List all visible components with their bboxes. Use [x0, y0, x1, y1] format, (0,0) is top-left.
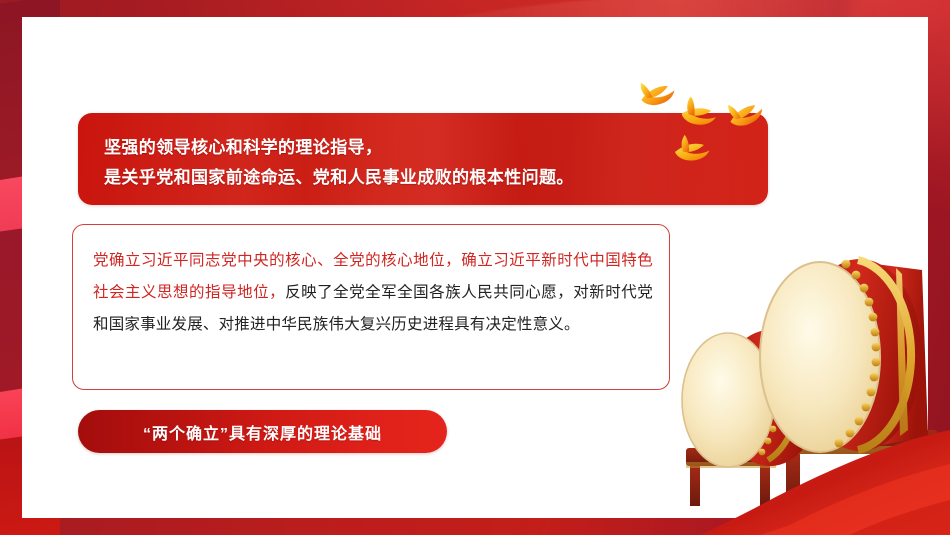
section-title-pill[interactable]: “两个确立”具有深厚的理论基础 — [78, 410, 447, 453]
headline-banner: 坚强的领导核心和科学的理论指导， 是关乎党和国家前途命运、党和人民事业成败的根本… — [78, 113, 768, 205]
headline-line-2: 是关乎党和国家前途命运、党和人民事业成败的根本性问题。 — [104, 163, 748, 193]
body-text: 党确立习近平同志党中央的核心、全党的核心地位，确立习近平新时代中国特色社会主义思… — [93, 245, 653, 341]
section-title-label: “两个确立”具有深厚的理论基础 — [143, 420, 382, 444]
headline-line-1: 坚强的领导核心和科学的理论指导， — [104, 133, 748, 163]
slide-canvas: 坚强的领导核心和科学的理论指导， 是关乎党和国家前途命运、党和人民事业成败的根本… — [0, 0, 950, 535]
body-text-frame: 党确立习近平同志党中央的核心、全党的核心地位，确立习近平新时代中国特色社会主义思… — [72, 224, 670, 390]
headline-text: 坚强的领导核心和科学的理论指导， 是关乎党和国家前途命运、党和人民事业成败的根本… — [104, 133, 748, 193]
